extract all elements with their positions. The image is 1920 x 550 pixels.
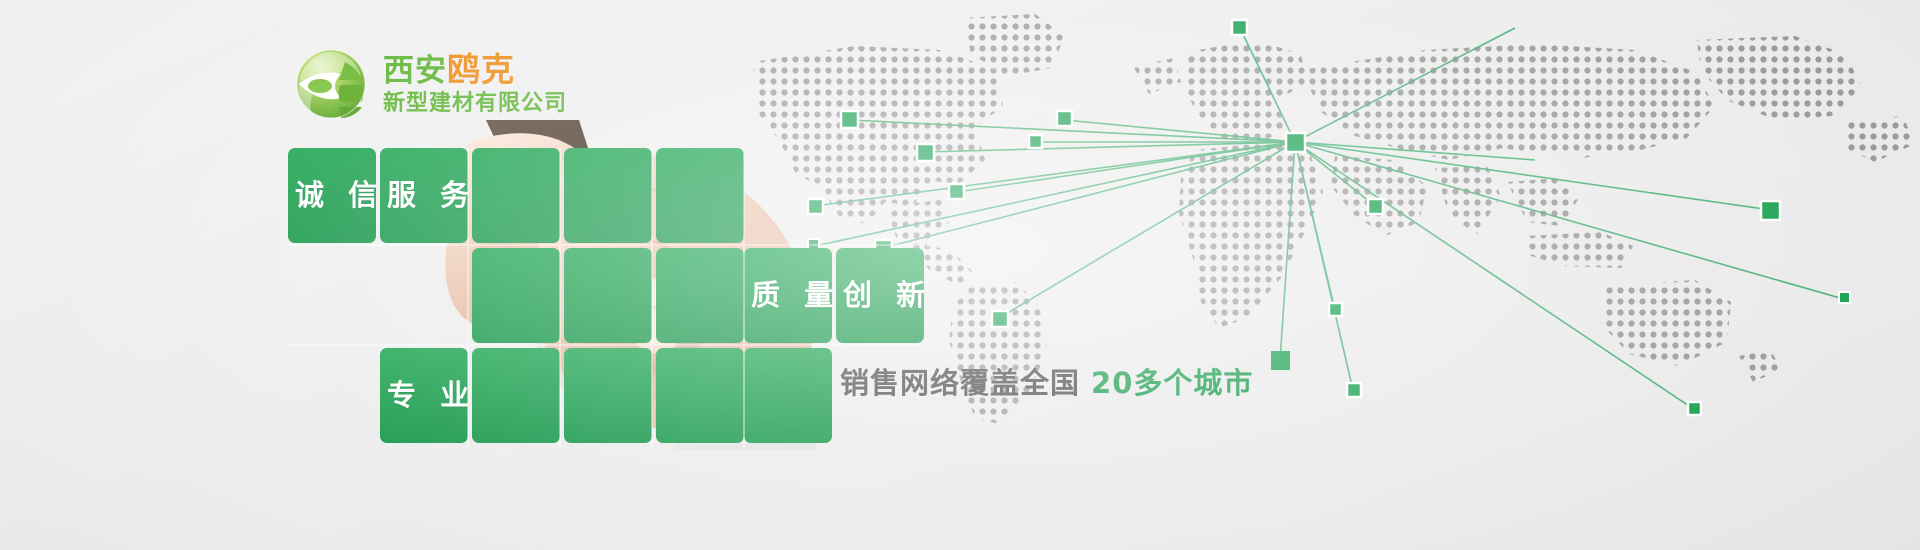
- sales-network-tagline: 销售网络覆盖全国20多个城市: [840, 360, 1253, 402]
- oke-globe-leaf-logo-icon: [293, 46, 369, 122]
- logo-text-block: 西安鸥克 新型建材有限公司: [383, 52, 567, 116]
- tagline-prefix: 销售网络覆盖全国: [840, 366, 1080, 400]
- logo-city: 西安: [383, 53, 447, 89]
- logo-brand: 鸥克: [447, 50, 515, 89]
- company-logo[interactable]: 西安鸥克 新型建材有限公司: [293, 44, 567, 124]
- promo-banner: 诚 信 服 务 质 量 创 新 专 业: [0, 0, 1920, 550]
- mosaic-tile-grid: 诚 信 服 务 质 量 创 新 专 业: [288, 148, 904, 418]
- logo-line-1: 西安鸥克: [383, 52, 567, 89]
- logo-line-2: 新型建材有限公司: [383, 91, 567, 116]
- tagline-highlight: 20多个城市: [1091, 366, 1253, 400]
